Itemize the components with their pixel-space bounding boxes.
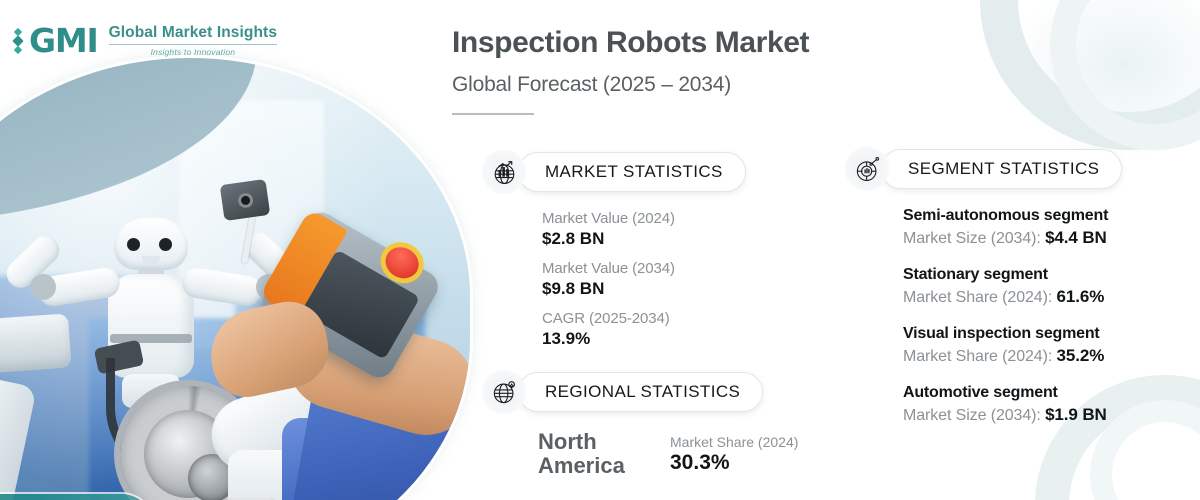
decorative-wash: [1010, 0, 1200, 160]
segment-metric-value: 35.2%: [1057, 346, 1105, 365]
robot-eye: [159, 238, 172, 251]
page-subtitle: Global Forecast (2025 – 2034): [452, 73, 809, 97]
page-title: Inspection Robots Market: [452, 26, 809, 60]
segment-metric: Market Size (2034): $1.9 BN: [903, 405, 1122, 425]
market-stat-item: Market Value (2024) $2.8 BN: [542, 210, 746, 249]
logo-gmi-text: GMI: [29, 24, 98, 57]
title-divider: [452, 113, 534, 115]
inspection-camera: [220, 179, 271, 221]
segment-metric-value: 61.6%: [1057, 287, 1105, 306]
logo-company-name: Global Market Insights: [109, 24, 277, 44]
segment-title: Visual inspection segment: [903, 325, 1122, 343]
market-stat-label: Market Value (2034): [542, 260, 746, 277]
regional-statistics-header: REGIONAL STATISTICS: [482, 370, 798, 414]
region-metric-value: 30.3%: [670, 451, 798, 475]
segment-title: Stationary segment: [903, 266, 1122, 284]
market-statistics-header: MARKET STATISTICS: [482, 150, 746, 194]
segment-title: Semi-autonomous segment: [903, 207, 1122, 225]
donut-chart-arrow-icon: [845, 147, 889, 191]
segment-item: Visual inspection segment Market Share (…: [903, 325, 1122, 366]
market-stat-value: $2.8 BN: [542, 229, 746, 249]
robot-eye: [127, 238, 140, 251]
market-statistics-panel: MARKET STATISTICS Market Value (2024) $2…: [482, 150, 746, 349]
segment-statistics-label: SEGMENT STATISTICS: [881, 149, 1122, 189]
segment-metric-label: Market Share (2024):: [903, 289, 1057, 306]
segment-metric-label: Market Size (2034):: [903, 230, 1045, 247]
segment-title: Automotive segment: [903, 384, 1122, 402]
market-stat-value: 13.9%: [542, 329, 746, 349]
segment-statistics-list: Semi-autonomous segment Market Size (203…: [845, 207, 1122, 425]
market-stat-item: Market Value (2034) $9.8 BN: [542, 260, 746, 299]
regional-statistics-panel: REGIONAL STATISTICS North America Market…: [482, 370, 798, 478]
regional-statistics-label: REGIONAL STATISTICS: [518, 372, 763, 412]
market-statistics-label: MARKET STATISTICS: [518, 152, 746, 192]
market-stat-label: CAGR (2025-2034): [542, 310, 746, 327]
segment-metric-value: $1.9 BN: [1045, 405, 1107, 424]
title-block: Inspection Robots Market Global Forecast…: [452, 26, 809, 115]
region-name: North America: [538, 430, 648, 478]
robot-shoulder-joint: [30, 274, 56, 300]
segment-item: Automotive segment Market Size (2034): $…: [903, 384, 1122, 425]
regional-statistics-body: North America Market Share (2024) 30.3%: [482, 430, 798, 478]
logo-tagline: Insights to Innovation: [109, 45, 277, 57]
segment-metric: Market Share (2024): 61.6%: [903, 287, 1122, 307]
contact-bar: sales@gminsights.com www.gminsights.com: [0, 494, 154, 500]
segment-metric-label: Market Size (2034):: [903, 407, 1045, 424]
market-stat-item: CAGR (2025-2034) 13.9%: [542, 310, 746, 349]
segment-metric-label: Market Share (2024):: [903, 348, 1057, 365]
infographic-canvas: sales@gminsights.com www.gminsights.com …: [0, 0, 1200, 500]
camera-lens-icon: [237, 192, 254, 209]
robot-belt: [110, 334, 192, 343]
globe-bar-chart-icon: [482, 150, 526, 194]
segment-item: Semi-autonomous segment Market Size (203…: [903, 207, 1122, 248]
logo-diamond-mark-icon: [14, 29, 22, 53]
segment-statistics-panel: SEGMENT STATISTICS Semi-autonomous segme…: [845, 147, 1122, 425]
market-stat-label: Market Value (2024): [542, 210, 746, 227]
market-statistics-list: Market Value (2024) $2.8 BN Market Value…: [482, 210, 746, 349]
brand-logo[interactable]: GMI Global Market Insights Insights to I…: [14, 24, 277, 57]
region-metric: Market Share (2024) 30.3%: [670, 434, 798, 475]
segment-statistics-header: SEGMENT STATISTICS: [845, 147, 1122, 191]
segment-metric: Market Share (2024): 35.2%: [903, 346, 1122, 366]
segment-metric-value: $4.4 BN: [1045, 228, 1107, 247]
segment-item: Stationary segment Market Share (2024): …: [903, 266, 1122, 307]
hero-image-robots: sales@gminsights.com www.gminsights.com: [0, 58, 470, 500]
globe-pin-icon: [482, 370, 526, 414]
robot-mouth: [142, 256, 160, 265]
segment-metric: Market Size (2034): $4.4 BN: [903, 228, 1122, 248]
region-metric-label: Market Share (2024): [670, 434, 798, 450]
market-stat-value: $9.8 BN: [542, 279, 746, 299]
robot-head: [114, 218, 188, 270]
